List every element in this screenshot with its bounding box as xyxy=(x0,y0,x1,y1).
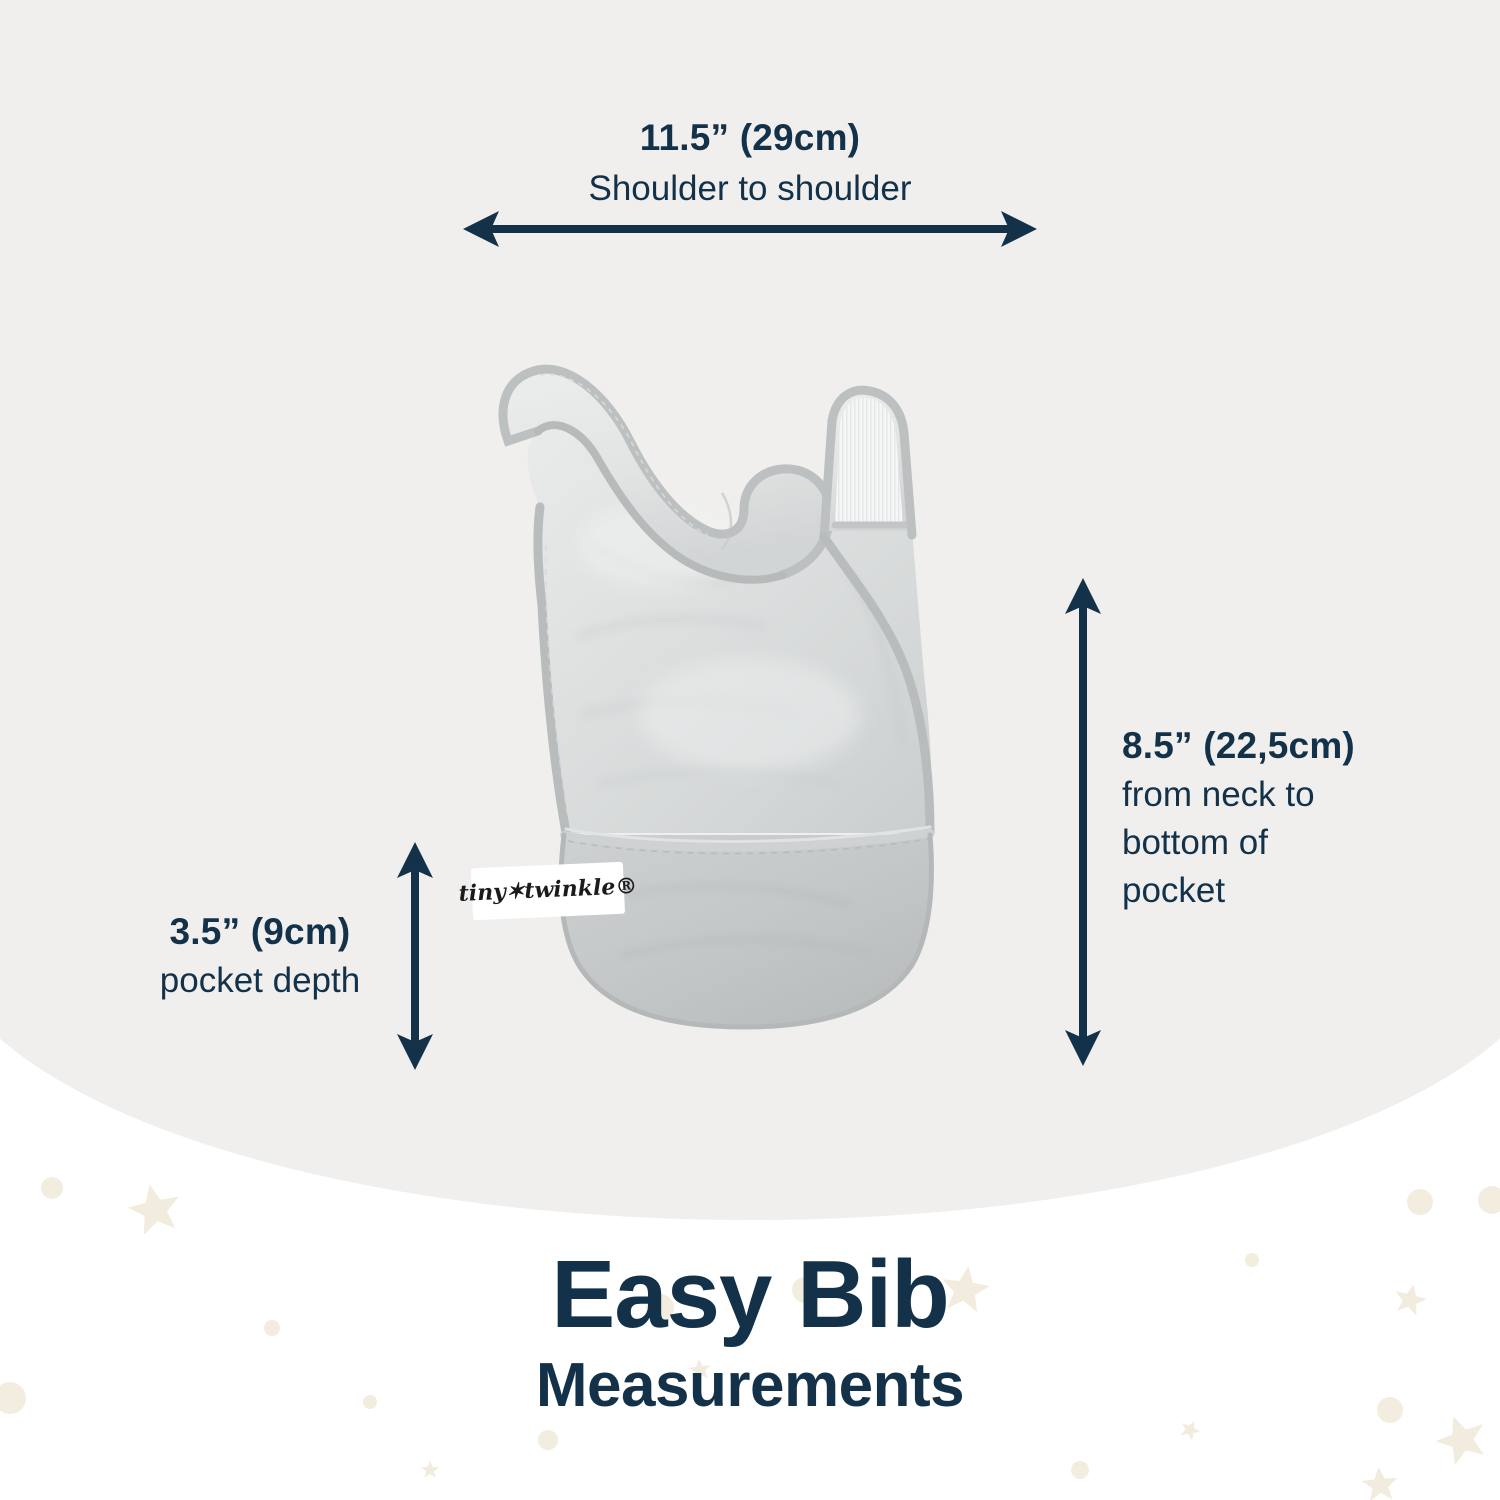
shoulder-measurement-description: Shoulder to shoulder xyxy=(0,166,1500,212)
pocket-depth-measurement-label: 3.5” (9cm) pocket depth xyxy=(110,908,410,1004)
infographic-canvas: tiny✶twinkle® 11.5” (29cm) Shoulder to s… xyxy=(0,0,1500,1500)
neck-to-pocket-description-line-3: pocket xyxy=(1122,868,1452,914)
shoulder-width-arrow xyxy=(455,206,1045,252)
brand-tag: tiny✶twinkle® xyxy=(458,862,638,921)
shoulder-measurement-label: 11.5” (29cm) Shoulder to shoulder xyxy=(0,116,1500,212)
neck-to-pocket-measurement-value: 8.5” (22,5cm) xyxy=(1122,722,1452,770)
neck-to-pocket-description-line-2: bottom of xyxy=(1122,820,1452,866)
product-title: Easy Bib xyxy=(0,1243,1500,1347)
pocket-depth-measurement-value: 3.5” (9cm) xyxy=(110,908,410,956)
product-title-block: Easy Bib Measurements xyxy=(0,1243,1500,1423)
pocket-depth-measurement-description: pocket depth xyxy=(110,958,410,1004)
neck-to-pocket-description-line-1: from neck to xyxy=(1122,772,1452,818)
bib-velcro-patch xyxy=(824,390,912,537)
product-subtitle: Measurements xyxy=(0,1349,1500,1423)
bib-pocket xyxy=(561,827,931,1027)
bib-product-image: tiny✶twinkle® xyxy=(330,245,1170,1075)
shoulder-measurement-value: 11.5” (29cm) xyxy=(0,116,1500,160)
neck-to-pocket-measurement-label: 8.5” (22,5cm) from neck to bottom of poc… xyxy=(1122,722,1452,914)
neck-to-pocket-arrow xyxy=(1060,570,1106,1074)
